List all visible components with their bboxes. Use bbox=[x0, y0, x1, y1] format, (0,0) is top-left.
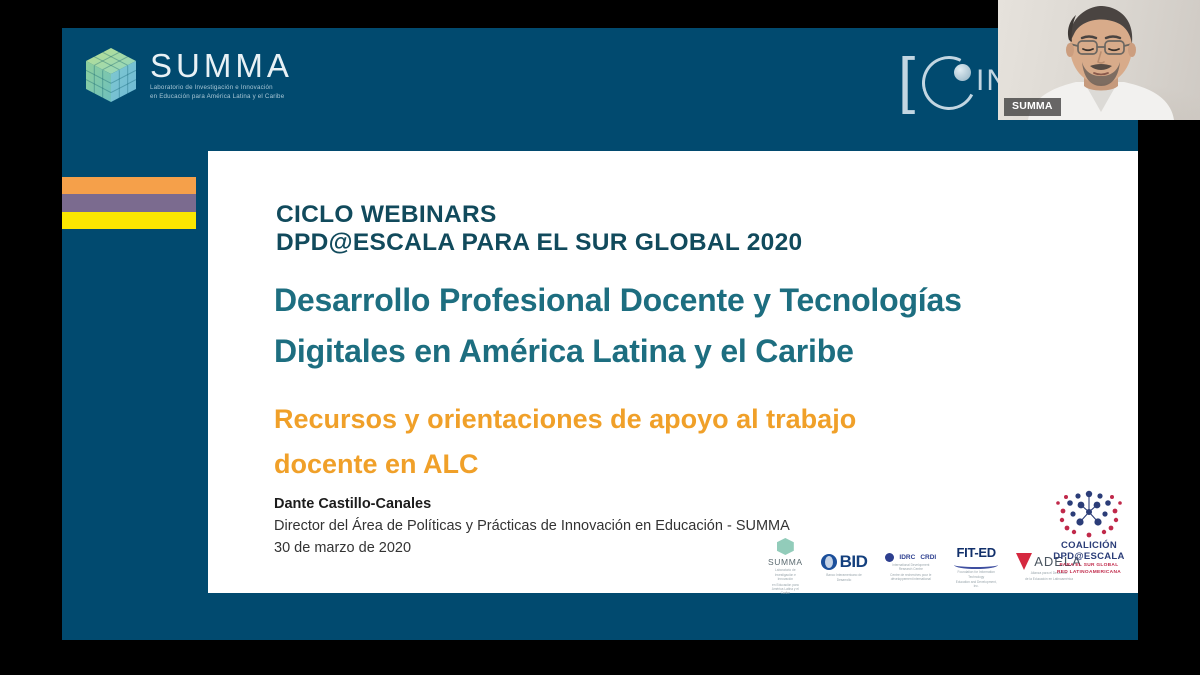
partner-logo-strip: SUMMA Laboratorio de Investigación e Inn… bbox=[768, 546, 1058, 588]
coalition-line-4: RED LATINOAMERICANA bbox=[1043, 569, 1135, 576]
coalition-line-3: PARA EL SUR GLOBAL bbox=[1043, 562, 1135, 569]
slide-kicker: CICLO WEBINARS DPD@ESCALA PARA EL SUR GL… bbox=[276, 201, 802, 257]
coalition-line-2: DPD@ESCALA bbox=[1043, 551, 1135, 562]
shared-screen-slide: SUMMA Laboratorio de Investigación e Inn… bbox=[62, 28, 1138, 640]
presenter-role: Director del Área de Políticas y Práctic… bbox=[274, 515, 790, 537]
partner-logo-idrc-crdi: IDRC CRDI International Development Rese… bbox=[885, 553, 936, 582]
bar-yellow bbox=[62, 212, 196, 229]
bracket-icon: [ bbox=[898, 50, 915, 112]
partner-logo-fit-ed: FIT-ED Foundation for Information Techno… bbox=[954, 545, 998, 589]
title-line-2: Digitales en América Latina y el Caribe bbox=[274, 326, 1134, 377]
partner-logo-summa: SUMMA Laboratorio de Investigación e Inn… bbox=[768, 538, 803, 596]
partner-name-alt: CRDI bbox=[920, 554, 936, 561]
partner-sub-2: en Educación para América Latina y el Ca… bbox=[768, 583, 803, 596]
partner-sub-1: Laboratorio de Investigación e Innovació… bbox=[768, 568, 803, 581]
partner-sub-1: Banco Interamericano de Desarrollo bbox=[821, 573, 868, 582]
presenter-name: Dante Castillo-Canales bbox=[274, 493, 790, 515]
partner-sub-1: International Development Research Centr… bbox=[885, 563, 936, 572]
partner-sub-2: Education and Development, Inc. bbox=[954, 580, 998, 589]
partner-name: BID bbox=[840, 552, 868, 572]
cube-logo-icon bbox=[84, 46, 138, 104]
globe-icon bbox=[954, 64, 971, 81]
partner-name: SUMMA bbox=[768, 557, 803, 567]
subtitle-line-1: Recursos y orientaciones de apoyo al tra… bbox=[274, 397, 1034, 442]
title-line-1: Desarrollo Profesional Docente y Tecnolo… bbox=[274, 275, 1134, 326]
triangle-icon bbox=[1016, 553, 1032, 570]
kicker-line-1: CICLO WEBINARS bbox=[276, 201, 802, 229]
summa-brand-logo: SUMMA Laboratorio de Investigación e Inn… bbox=[84, 46, 293, 104]
idrc-icon bbox=[885, 553, 894, 562]
participant-name-label: SUMMA bbox=[1004, 98, 1061, 116]
summa-wordmark: SUMMA bbox=[150, 49, 293, 82]
partner-sub-1: Foundation for Information Technology bbox=[954, 570, 998, 579]
subtitle-line-2: docente en ALC bbox=[274, 442, 1034, 487]
globe-icon bbox=[821, 554, 837, 570]
slide-content-card: CICLO WEBINARS DPD@ESCALA PARA EL SUR GL… bbox=[208, 151, 1138, 593]
summa-tagline: Laboratorio de Investigación e Innovació… bbox=[150, 84, 293, 102]
slide-title: Desarrollo Profesional Docente y Tecnolo… bbox=[274, 275, 1134, 377]
network-nodes-icon bbox=[1050, 488, 1128, 540]
video-participant-tile[interactable]: SUMMA bbox=[998, 0, 1200, 120]
swoosh-icon bbox=[954, 561, 998, 569]
letter-c-ring-icon bbox=[915, 49, 983, 117]
coalition-logo: COALICIÓN DPD@ESCALA PARA EL SUR GLOBAL … bbox=[1043, 488, 1135, 576]
accent-color-bars bbox=[62, 177, 196, 229]
bar-purple bbox=[62, 194, 196, 211]
presentation-date: 30 de marzo de 2020 bbox=[274, 537, 790, 559]
coalition-line-1: COALICIÓN bbox=[1043, 540, 1135, 551]
bar-orange bbox=[62, 177, 196, 194]
partner-sub-2: Centre de recherches pour le développeme… bbox=[885, 573, 936, 582]
partner-name: FIT-ED bbox=[954, 545, 998, 560]
video-call-stage: SUMMA Laboratorio de Investigación e Inn… bbox=[0, 0, 1200, 675]
summa-logo-text: SUMMA Laboratorio de Investigación e Inn… bbox=[150, 49, 293, 102]
kicker-line-2: DPD@ESCALA PARA EL SUR GLOBAL 2020 bbox=[276, 229, 802, 257]
partner-logo-bid: BID Banco Interamericano de Desarrollo bbox=[821, 552, 868, 582]
hexagon-icon bbox=[777, 538, 794, 555]
slide-subtitle: Recursos y orientaciones de apoyo al tra… bbox=[274, 397, 1034, 487]
presenter-block: Dante Castillo-Canales Director del Área… bbox=[274, 493, 790, 559]
partner-sub-2: de la Educación en Latinoamérica bbox=[1016, 577, 1082, 581]
partner-name: IDRC bbox=[899, 554, 915, 561]
